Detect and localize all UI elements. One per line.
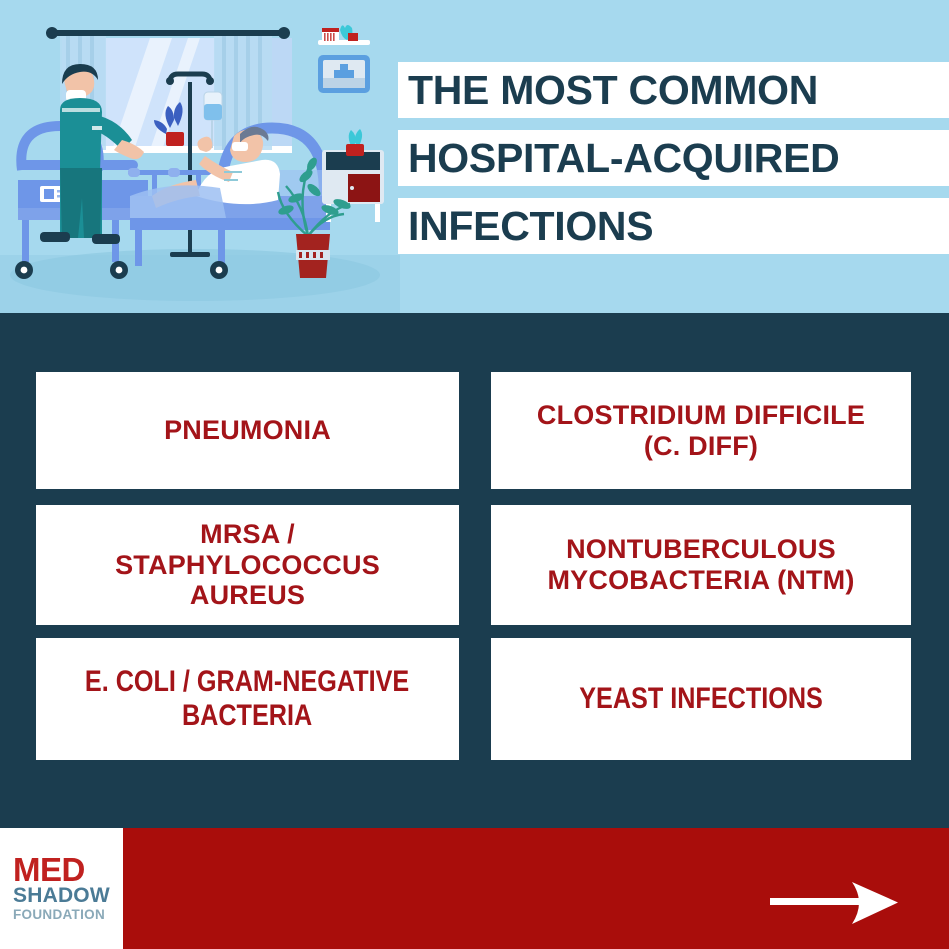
logo-foundation-text: FOUNDATION — [13, 907, 105, 922]
card-yeast-label: YEAST INFECTIONS — [579, 682, 823, 716]
card-pneumonia[interactable]: PNEUMONIA — [36, 372, 459, 489]
card-mrsa-line-2: STAPHYLOCOCCUS — [115, 550, 380, 580]
card-ecoli-label: E. COLI / GRAM-NEGATIVE BACTERIA — [85, 665, 409, 733]
arrow-right-icon — [770, 880, 900, 926]
card-c-diff[interactable]: CLOSTRIDIUM DIFFICILE (C. DIFF) — [491, 372, 911, 489]
card-ntm[interactable]: NONTUBERCULOUS MYCOBACTERIA (NTM) — [491, 505, 911, 625]
logo-shadow-text: SHADOW — [13, 885, 110, 907]
card-ecoli-line-2: BACTERIA — [182, 699, 312, 732]
infection-cards-grid: PNEUMONIA CLOSTRIDIUM DIFFICILE (C. DIFF… — [0, 313, 949, 828]
title-line-3: INFECTIONS — [398, 198, 949, 254]
card-mrsa-line-3: AUREUS — [190, 580, 305, 610]
card-yeast[interactable]: YEAST INFECTIONS — [491, 638, 911, 760]
card-mrsa-label: MRSA / STAPHYLOCOCCUS AUREUS — [115, 519, 380, 611]
next-arrow-button[interactable] — [770, 880, 900, 926]
card-ntm-label: NONTUBERCULOUS MYCOBACTERIA (NTM) — [547, 534, 854, 596]
hospital-room-illustration — [0, 0, 400, 313]
card-c-diff-line-2: (C. DIFF) — [644, 431, 758, 461]
page-title: THE MOST COMMON HOSPITAL-ACQUIRED INFECT… — [398, 62, 949, 254]
medshadow-logo[interactable]: MED SHADOW FOUNDATION — [0, 828, 123, 949]
card-pneumonia-label: PNEUMONIA — [164, 415, 331, 446]
card-mrsa-line-1: MRSA / — [200, 519, 295, 549]
title-line-2: HOSPITAL-ACQUIRED — [398, 130, 949, 186]
logo-med-text: MED — [13, 855, 85, 885]
infographic-canvas: THE MOST COMMON HOSPITAL-ACQUIRED INFECT… — [0, 0, 949, 949]
card-ntm-line-1: NONTUBERCULOUS — [566, 534, 836, 564]
card-c-diff-line-1: CLOSTRIDIUM DIFFICILE — [537, 400, 865, 430]
card-c-diff-label: CLOSTRIDIUM DIFFICILE (C. DIFF) — [537, 400, 865, 462]
header-section: THE MOST COMMON HOSPITAL-ACQUIRED INFECT… — [0, 0, 949, 313]
footer-bar: MED SHADOW FOUNDATION — [0, 828, 949, 949]
card-ecoli[interactable]: E. COLI / GRAM-NEGATIVE BACTERIA — [36, 638, 459, 760]
card-ecoli-line-1: E. COLI / GRAM-NEGATIVE — [85, 665, 409, 698]
title-line-1: THE MOST COMMON — [398, 62, 949, 118]
card-mrsa[interactable]: MRSA / STAPHYLOCOCCUS AUREUS — [36, 505, 459, 625]
card-ntm-line-2: MYCOBACTERIA (NTM) — [547, 565, 854, 595]
